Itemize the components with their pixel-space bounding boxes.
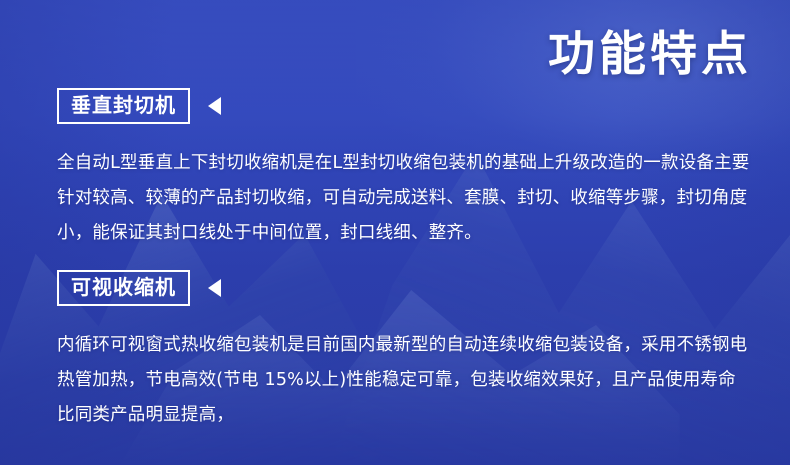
section-vertical-sealer: 垂直封切机 全自动L型垂直上下封切收缩机是在L型封切收缩包装机的基础上升级改造的… [57, 88, 750, 251]
section-visual-shrink-machine: 可视收缩机 内循环可视窗式热收缩包装机是目前国内最新型的自动连续收缩包装设备，采… [57, 270, 750, 433]
section-paragraph: 全自动L型垂直上下封切收缩机是在L型封切收缩包装机的基础上升级改造的一款设备主要… [57, 146, 750, 251]
section-tag-label: 垂直封切机 [57, 88, 190, 124]
section-header: 可视收缩机 [57, 270, 750, 306]
left-triangle-icon [208, 279, 221, 297]
section-body: 内循环可视窗式热收缩包装机是目前国内最新型的自动连续收缩包装设备，采用不锈钢电热… [57, 328, 750, 433]
section-header: 垂直封切机 [57, 88, 750, 124]
section-body: 全自动L型垂直上下封切收缩机是在L型封切收缩包装机的基础上升级改造的一款设备主要… [57, 146, 750, 251]
page-title: 功能特点 [548, 30, 752, 79]
left-triangle-icon [208, 97, 221, 115]
section-tag-label: 可视收缩机 [57, 270, 190, 306]
poster-root: 功能特点 垂直封切机 全自动L型垂直上下封切收缩机是在L型封切收缩包装机的基础上… [0, 0, 790, 465]
section-paragraph: 内循环可视窗式热收缩包装机是目前国内最新型的自动连续收缩包装设备，采用不锈钢电热… [57, 328, 750, 433]
